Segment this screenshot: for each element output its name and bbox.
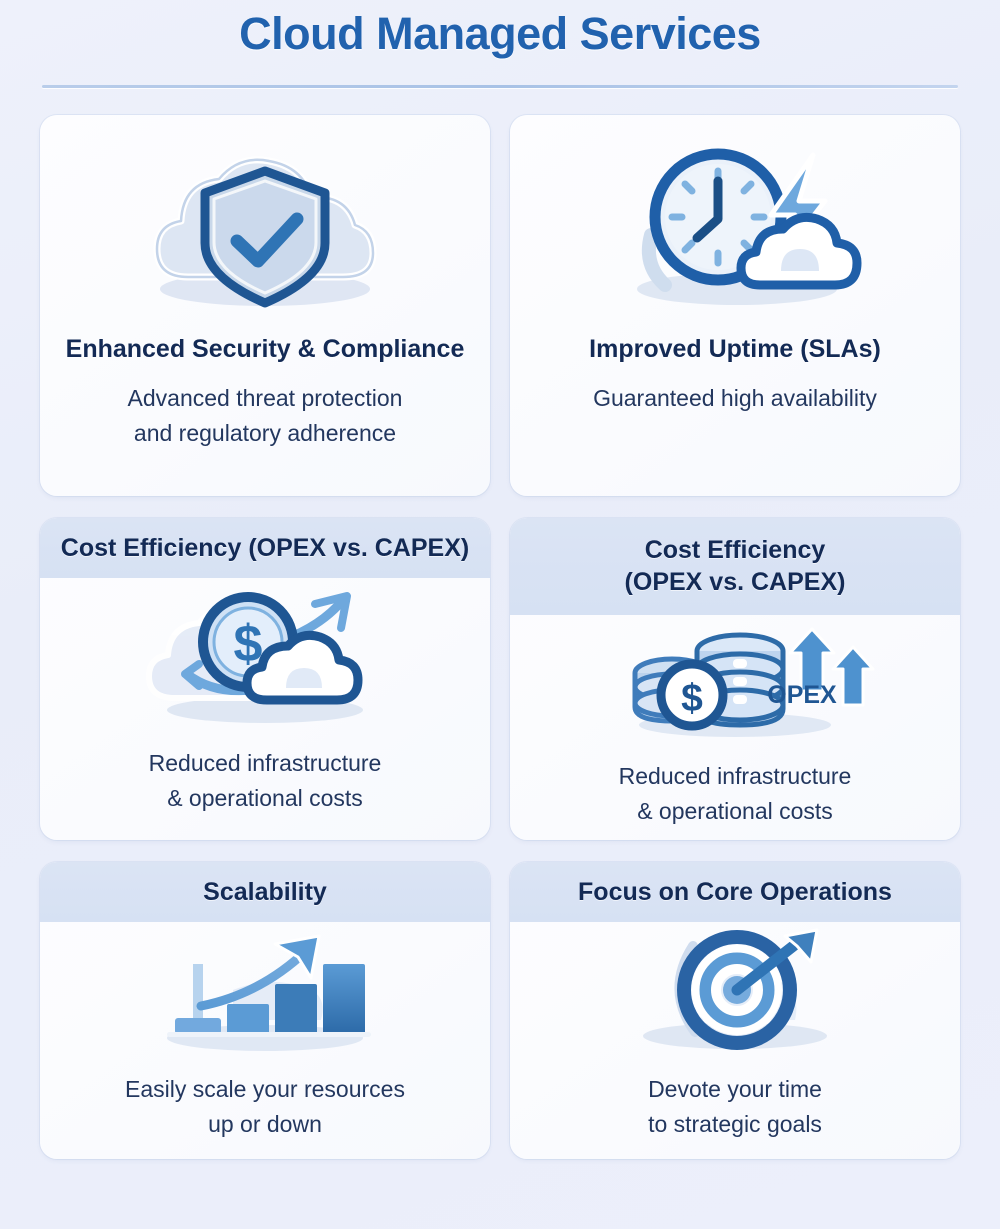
card-description: Easily scale your resources up or down — [103, 1072, 427, 1143]
card-description: Reduced infrastructure & operational cos… — [127, 746, 404, 817]
card-body: Devote your time to strategic goals — [510, 922, 960, 1159]
card-description: Devote your time to strategic goals — [626, 1072, 844, 1143]
page-title: Cloud Managed Services — [0, 8, 1000, 60]
card-header-band: Cost Efficiency (OPEX vs. CAPEX) — [40, 518, 490, 578]
card-description: Reduced infrastructure & operational cos… — [597, 759, 874, 830]
target-arrow-icon — [585, 928, 885, 1058]
card-enhanced-security[interactable]: Enhanced Security & Compliance Advanced … — [40, 115, 490, 496]
bar-chart-growth-arrow-icon — [115, 928, 415, 1058]
card-body: $ Reduced infrastructure & operational c… — [40, 578, 490, 840]
card-title: Enhanced Security & Compliance — [48, 333, 483, 365]
card-scalability[interactable]: Scalability — [40, 862, 490, 1159]
card-title: Improved Uptime (SLAs) — [571, 333, 899, 365]
infographic-page: Cloud Managed Services — [0, 0, 1000, 1229]
card-body: $ OPEX Reduced infrastructure & operatio… — [510, 615, 960, 840]
card-title: Scalability — [203, 876, 327, 908]
card-cost-efficiency-clouds[interactable]: Cost Efficiency (OPEX vs. CAPEX) $ — [40, 518, 490, 840]
card-title: Focus on Core Operations — [578, 876, 892, 908]
title-divider — [42, 85, 958, 88]
dollar-coin-clouds-arrows-icon: $ — [115, 582, 415, 732]
coin-stacks-opex-arrows-icon: $ OPEX — [585, 617, 885, 745]
card-title: Cost Efficiency (OPEX vs. CAPEX) — [625, 534, 846, 598]
svg-text:$: $ — [681, 677, 703, 720]
card-header-band: Focus on Core Operations — [510, 862, 960, 922]
card-description: Guaranteed high availability — [571, 381, 899, 417]
card-header-band: Scalability — [40, 862, 490, 922]
card-description: Advanced threat protection and regulator… — [106, 381, 425, 452]
card-improved-uptime[interactable]: Improved Uptime (SLAs) Guaranteed high a… — [510, 115, 960, 496]
page-header: Cloud Managed Services — [0, 0, 1000, 88]
card-title: Cost Efficiency (OPEX vs. CAPEX) — [61, 532, 469, 564]
card-focus-core-operations[interactable]: Focus on Core Operations — [510, 862, 960, 1159]
shield-check-cloud-icon — [115, 137, 415, 317]
benefit-card-grid: Enhanced Security & Compliance Advanced … — [40, 115, 960, 1159]
icon-label-opex: OPEX — [767, 681, 837, 709]
card-body: Enhanced Security & Compliance Advanced … — [40, 115, 490, 496]
card-header-band: Cost Efficiency (OPEX vs. CAPEX) — [510, 518, 960, 615]
card-cost-efficiency-coins[interactable]: Cost Efficiency (OPEX vs. CAPEX) — [510, 518, 960, 840]
clock-lightning-cloud-icon — [585, 137, 885, 317]
card-body: Improved Uptime (SLAs) Guaranteed high a… — [510, 115, 960, 496]
card-body: Easily scale your resources up or down — [40, 922, 490, 1159]
